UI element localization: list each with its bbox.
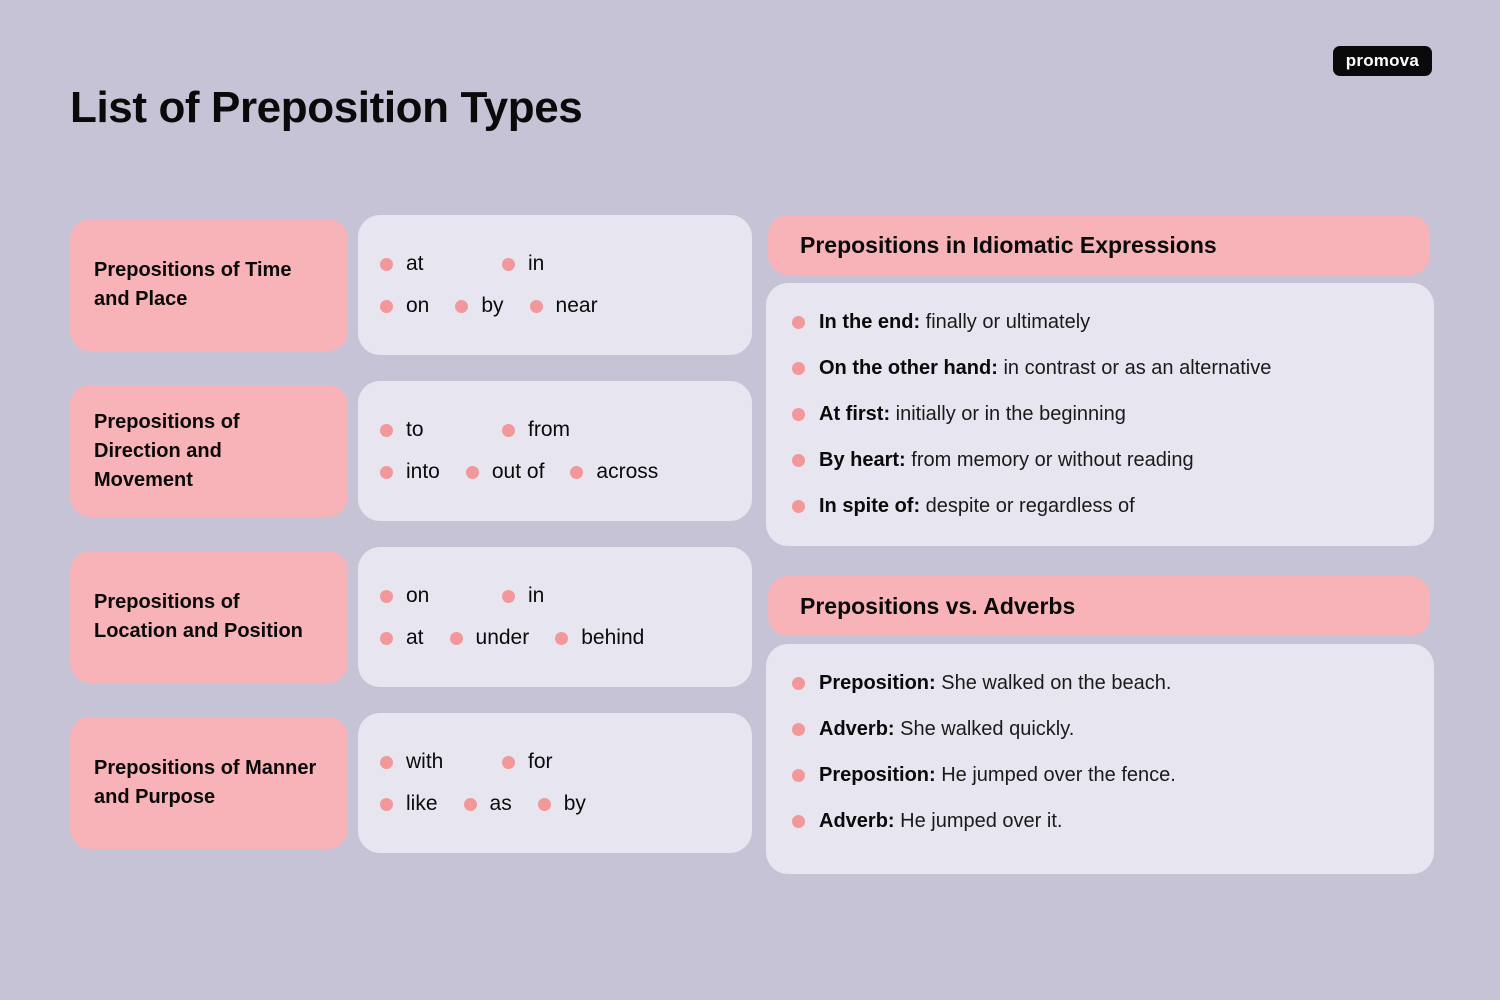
list-item: In the end: finally or ultimately bbox=[792, 309, 1406, 336]
bullet-dot-icon bbox=[455, 300, 468, 313]
panel-header[interactable]: Prepositions vs. Adverbs bbox=[768, 576, 1430, 636]
preposition-label: across bbox=[596, 460, 658, 484]
preposition-item[interactable]: by bbox=[455, 294, 503, 318]
bullet-dot-icon bbox=[380, 590, 393, 603]
bullet-dot-icon bbox=[555, 632, 568, 645]
panel-title: Prepositions vs. Adverbs bbox=[800, 593, 1075, 620]
preposition-item[interactable]: near bbox=[530, 294, 598, 318]
preposition-item[interactable]: for bbox=[502, 750, 598, 774]
list-item: By heart: from memory or without reading bbox=[792, 447, 1406, 474]
bullet-dot-icon bbox=[380, 632, 393, 645]
panels-column: Prepositions in Idiomatic ExpressionsIn … bbox=[766, 215, 1434, 904]
category-row: Prepositions of Location and Positiononi… bbox=[70, 547, 752, 687]
preposition-label: behind bbox=[581, 626, 644, 650]
list-item-term: At first: bbox=[819, 403, 890, 425]
bullet-dot-icon bbox=[380, 258, 393, 271]
category-row: Prepositions of Manner and Purposewithfo… bbox=[70, 713, 752, 853]
bullet-dot-icon bbox=[792, 723, 805, 736]
list-item: In spite of: despite or regardless of bbox=[792, 493, 1406, 520]
list-item-definition: He jumped over it. bbox=[900, 810, 1062, 832]
list-item-definition: from memory or without reading bbox=[911, 449, 1193, 471]
list-item: Adverb: He jumped over it. bbox=[792, 808, 1406, 835]
bullet-dot-icon bbox=[450, 632, 463, 645]
preposition-item[interactable]: from bbox=[502, 418, 598, 442]
preposition-label: like bbox=[406, 792, 438, 816]
bullet-dot-icon bbox=[792, 316, 805, 329]
category-label-card[interactable]: Prepositions of Location and Position bbox=[70, 551, 348, 683]
preposition-label: by bbox=[564, 792, 586, 816]
list-item-definition: initially or in the beginning bbox=[896, 403, 1126, 425]
list-item-term: By heart: bbox=[819, 449, 906, 471]
list-item-term: Preposition: bbox=[819, 672, 936, 694]
preposition-row: likeasby bbox=[380, 792, 732, 816]
preposition-item[interactable]: on bbox=[380, 584, 476, 608]
preposition-item[interactable]: under bbox=[450, 626, 530, 650]
preposition-item[interactable]: by bbox=[538, 792, 586, 816]
panel-header[interactable]: Prepositions in Idiomatic Expressions bbox=[768, 215, 1430, 275]
preposition-item[interactable]: into bbox=[380, 460, 440, 484]
list-item-term: On the other hand: bbox=[819, 357, 998, 379]
preposition-row: withfor bbox=[380, 750, 732, 774]
preposition-item[interactable]: behind bbox=[555, 626, 644, 650]
category-label-text: Prepositions of Location and Position bbox=[94, 588, 324, 646]
preposition-label: on bbox=[406, 584, 429, 608]
list-item: On the other hand: in contrast or as an … bbox=[792, 355, 1406, 382]
preposition-item[interactable]: in bbox=[502, 252, 598, 276]
preposition-item[interactable]: out of bbox=[466, 460, 545, 484]
category-label-card[interactable]: Prepositions of Time and Place bbox=[70, 219, 348, 351]
preposition-row: onin bbox=[380, 584, 732, 608]
list-item-text: Adverb: She walked quickly. bbox=[819, 716, 1074, 743]
bullet-dot-icon bbox=[792, 454, 805, 467]
preposition-item[interactable]: in bbox=[502, 584, 598, 608]
preposition-label: at bbox=[406, 252, 424, 276]
preposition-item[interactable]: to bbox=[380, 418, 476, 442]
category-label-card[interactable]: Prepositions of Manner and Purpose bbox=[70, 717, 348, 849]
panel-body: In the end: finally or ultimatelyOn the … bbox=[766, 283, 1434, 546]
info-panel: Prepositions in Idiomatic ExpressionsIn … bbox=[766, 215, 1434, 546]
bullet-dot-icon bbox=[380, 424, 393, 437]
bullet-dot-icon bbox=[538, 798, 551, 811]
preposition-label: into bbox=[406, 460, 440, 484]
preposition-label: out of bbox=[492, 460, 545, 484]
bullet-dot-icon bbox=[466, 466, 479, 479]
list-item-definition: He jumped over the fence. bbox=[941, 764, 1176, 786]
preposition-label: by bbox=[481, 294, 503, 318]
list-item-text: At first: initially or in the beginning bbox=[819, 401, 1126, 428]
preposition-label: as bbox=[490, 792, 512, 816]
panel-body: Preposition: She walked on the beach.Adv… bbox=[766, 644, 1434, 874]
bullet-dot-icon bbox=[792, 408, 805, 421]
bullet-dot-icon bbox=[792, 769, 805, 782]
bullet-dot-icon bbox=[380, 300, 393, 313]
category-label-card[interactable]: Prepositions of Direction and Movement bbox=[70, 385, 348, 517]
preposition-row: intoout ofacross bbox=[380, 460, 732, 484]
category-label-text: Prepositions of Time and Place bbox=[94, 256, 324, 314]
preposition-row: onbynear bbox=[380, 294, 732, 318]
list-item: Preposition: She walked on the beach. bbox=[792, 670, 1406, 697]
list-item-text: Preposition: He jumped over the fence. bbox=[819, 762, 1176, 789]
list-item-term: Preposition: bbox=[819, 764, 936, 786]
preposition-item[interactable]: with bbox=[380, 750, 476, 774]
promova-logo: promova bbox=[1333, 46, 1432, 76]
bullet-dot-icon bbox=[792, 362, 805, 375]
list-item: Adverb: She walked quickly. bbox=[792, 716, 1406, 743]
preposition-row: atin bbox=[380, 252, 732, 276]
preposition-label: under bbox=[476, 626, 530, 650]
list-item-text: By heart: from memory or without reading bbox=[819, 447, 1194, 474]
list-item-text: Preposition: She walked on the beach. bbox=[819, 670, 1171, 697]
bullet-dot-icon bbox=[380, 756, 393, 769]
bullet-dot-icon bbox=[792, 677, 805, 690]
list-item-definition: She walked on the beach. bbox=[941, 672, 1171, 694]
bullet-dot-icon bbox=[570, 466, 583, 479]
list-item-term: In the end: bbox=[819, 311, 920, 333]
preposition-label: on bbox=[406, 294, 429, 318]
preposition-row: atunderbehind bbox=[380, 626, 732, 650]
bullet-dot-icon bbox=[502, 258, 515, 271]
list-item-definition: in contrast or as an alternative bbox=[1003, 357, 1271, 379]
preposition-item[interactable]: at bbox=[380, 626, 424, 650]
list-item-definition: finally or ultimately bbox=[926, 311, 1091, 333]
bullet-dot-icon bbox=[464, 798, 477, 811]
bullet-dot-icon bbox=[530, 300, 543, 313]
category-label-text: Prepositions of Direction and Movement bbox=[94, 408, 324, 495]
bullet-dot-icon bbox=[502, 424, 515, 437]
list-item-term: Adverb: bbox=[819, 718, 895, 740]
list-item-definition: She walked quickly. bbox=[900, 718, 1074, 740]
list-item-term: In spite of: bbox=[819, 495, 920, 517]
page-title: List of Preposition Types bbox=[70, 84, 582, 132]
preposition-item[interactable]: at bbox=[380, 252, 476, 276]
bullet-dot-icon bbox=[792, 500, 805, 513]
list-item: At first: initially or in the beginning bbox=[792, 401, 1406, 428]
preposition-label: for bbox=[528, 750, 553, 774]
preposition-label: in bbox=[528, 252, 544, 276]
preposition-item[interactable]: across bbox=[570, 460, 658, 484]
list-item-term: Adverb: bbox=[819, 810, 895, 832]
category-column: Prepositions of Time and Placeatinonbyne… bbox=[70, 215, 752, 879]
bullet-dot-icon bbox=[380, 466, 393, 479]
preposition-label: from bbox=[528, 418, 570, 442]
preposition-item[interactable]: like bbox=[380, 792, 438, 816]
preposition-list-card: tofromintoout ofacross bbox=[358, 381, 752, 521]
preposition-item[interactable]: on bbox=[380, 294, 429, 318]
preposition-list-card: atinonbynear bbox=[358, 215, 752, 355]
panel-title: Prepositions in Idiomatic Expressions bbox=[800, 232, 1217, 259]
list-item-text: Adverb: He jumped over it. bbox=[819, 808, 1062, 835]
preposition-list-card: oninatunderbehind bbox=[358, 547, 752, 687]
preposition-label: to bbox=[406, 418, 424, 442]
info-panel: Prepositions vs. AdverbsPreposition: She… bbox=[766, 576, 1434, 874]
preposition-list-card: withforlikeasby bbox=[358, 713, 752, 853]
bullet-dot-icon bbox=[380, 798, 393, 811]
bullet-dot-icon bbox=[792, 815, 805, 828]
category-row: Prepositions of Time and Placeatinonbyne… bbox=[70, 215, 752, 355]
category-label-text: Prepositions of Manner and Purpose bbox=[94, 754, 324, 812]
preposition-label: at bbox=[406, 626, 424, 650]
list-item-text: In the end: finally or ultimately bbox=[819, 309, 1090, 336]
list-item-text: In spite of: despite or regardless of bbox=[819, 493, 1135, 520]
list-item: Preposition: He jumped over the fence. bbox=[792, 762, 1406, 789]
preposition-label: with bbox=[406, 750, 443, 774]
category-row: Prepositions of Direction and Movementto… bbox=[70, 381, 752, 521]
bullet-dot-icon bbox=[502, 756, 515, 769]
bullet-dot-icon bbox=[502, 590, 515, 603]
preposition-item[interactable]: as bbox=[464, 792, 512, 816]
list-item-text: On the other hand: in contrast or as an … bbox=[819, 355, 1271, 382]
preposition-label: near bbox=[556, 294, 598, 318]
preposition-label: in bbox=[528, 584, 544, 608]
list-item-definition: despite or regardless of bbox=[926, 495, 1135, 517]
preposition-row: tofrom bbox=[380, 418, 732, 442]
